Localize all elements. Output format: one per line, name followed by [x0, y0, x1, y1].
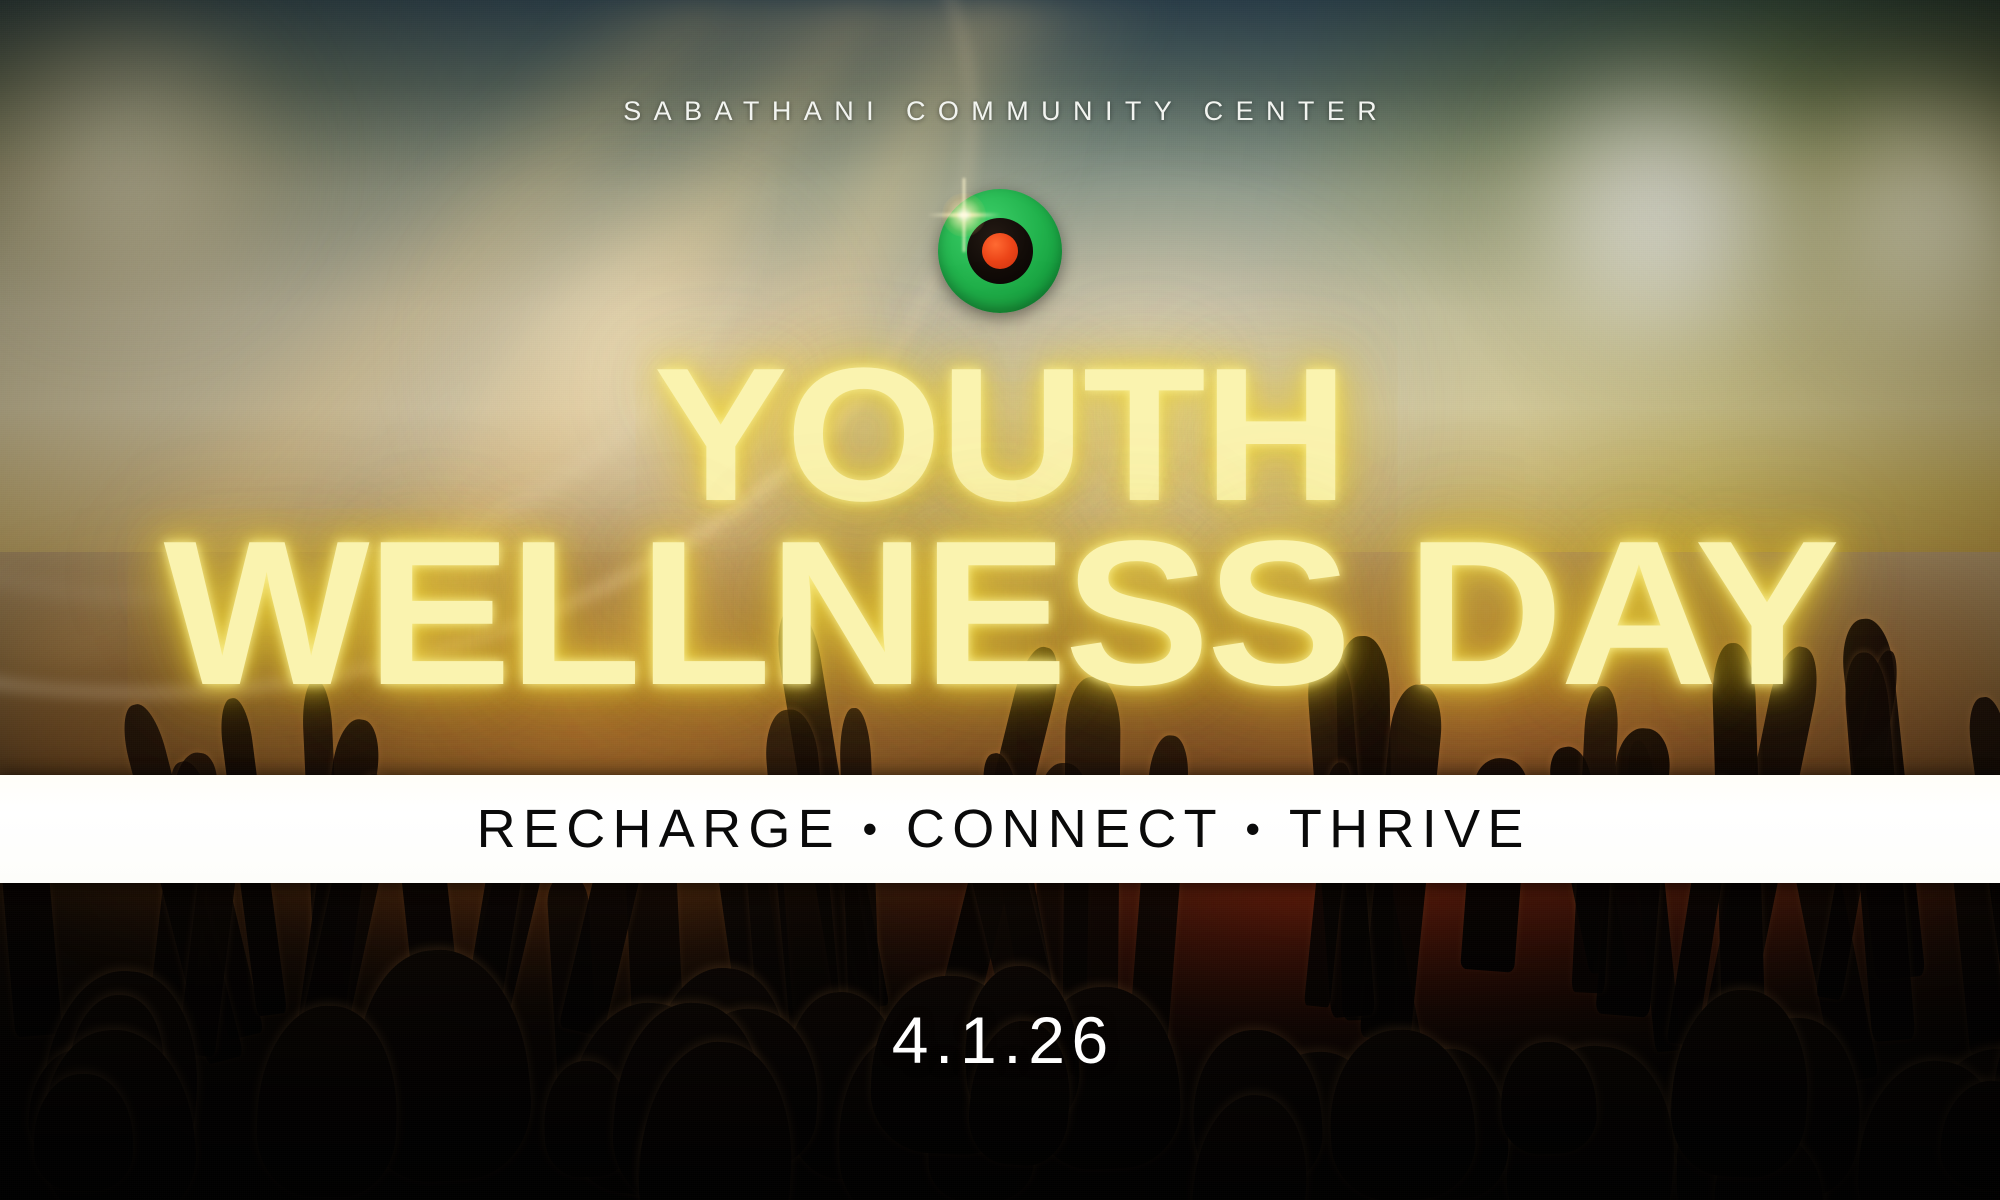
logo-center-dot: [982, 233, 1018, 269]
event-date: 4.1.26: [0, 1002, 2000, 1078]
tagline-word: RECHARGE: [477, 799, 841, 859]
logo: [925, 182, 1075, 322]
tagline-separator: •: [841, 805, 906, 852]
poster-canvas: SABATHANI COMMUNITY CENTER YOUTH WELLNES…: [0, 0, 2000, 1200]
tagline-separator: •: [1224, 805, 1289, 852]
headline-line-2: WELLNESS DAY: [0, 521, 2000, 706]
tagline-band: RECHARGE • CONNECT • THRIVE: [0, 775, 2000, 883]
tagline: RECHARGE • CONNECT • THRIVE: [469, 798, 1530, 860]
organization-name: SABATHANI COMMUNITY CENTER: [0, 96, 2000, 127]
tagline-word: CONNECT: [906, 799, 1224, 859]
poster-content: SABATHANI COMMUNITY CENTER YOUTH WELLNES…: [0, 0, 2000, 1200]
page-title: YOUTH WELLNESS DAY: [0, 350, 2000, 706]
tagline-word: THRIVE: [1289, 799, 1531, 859]
